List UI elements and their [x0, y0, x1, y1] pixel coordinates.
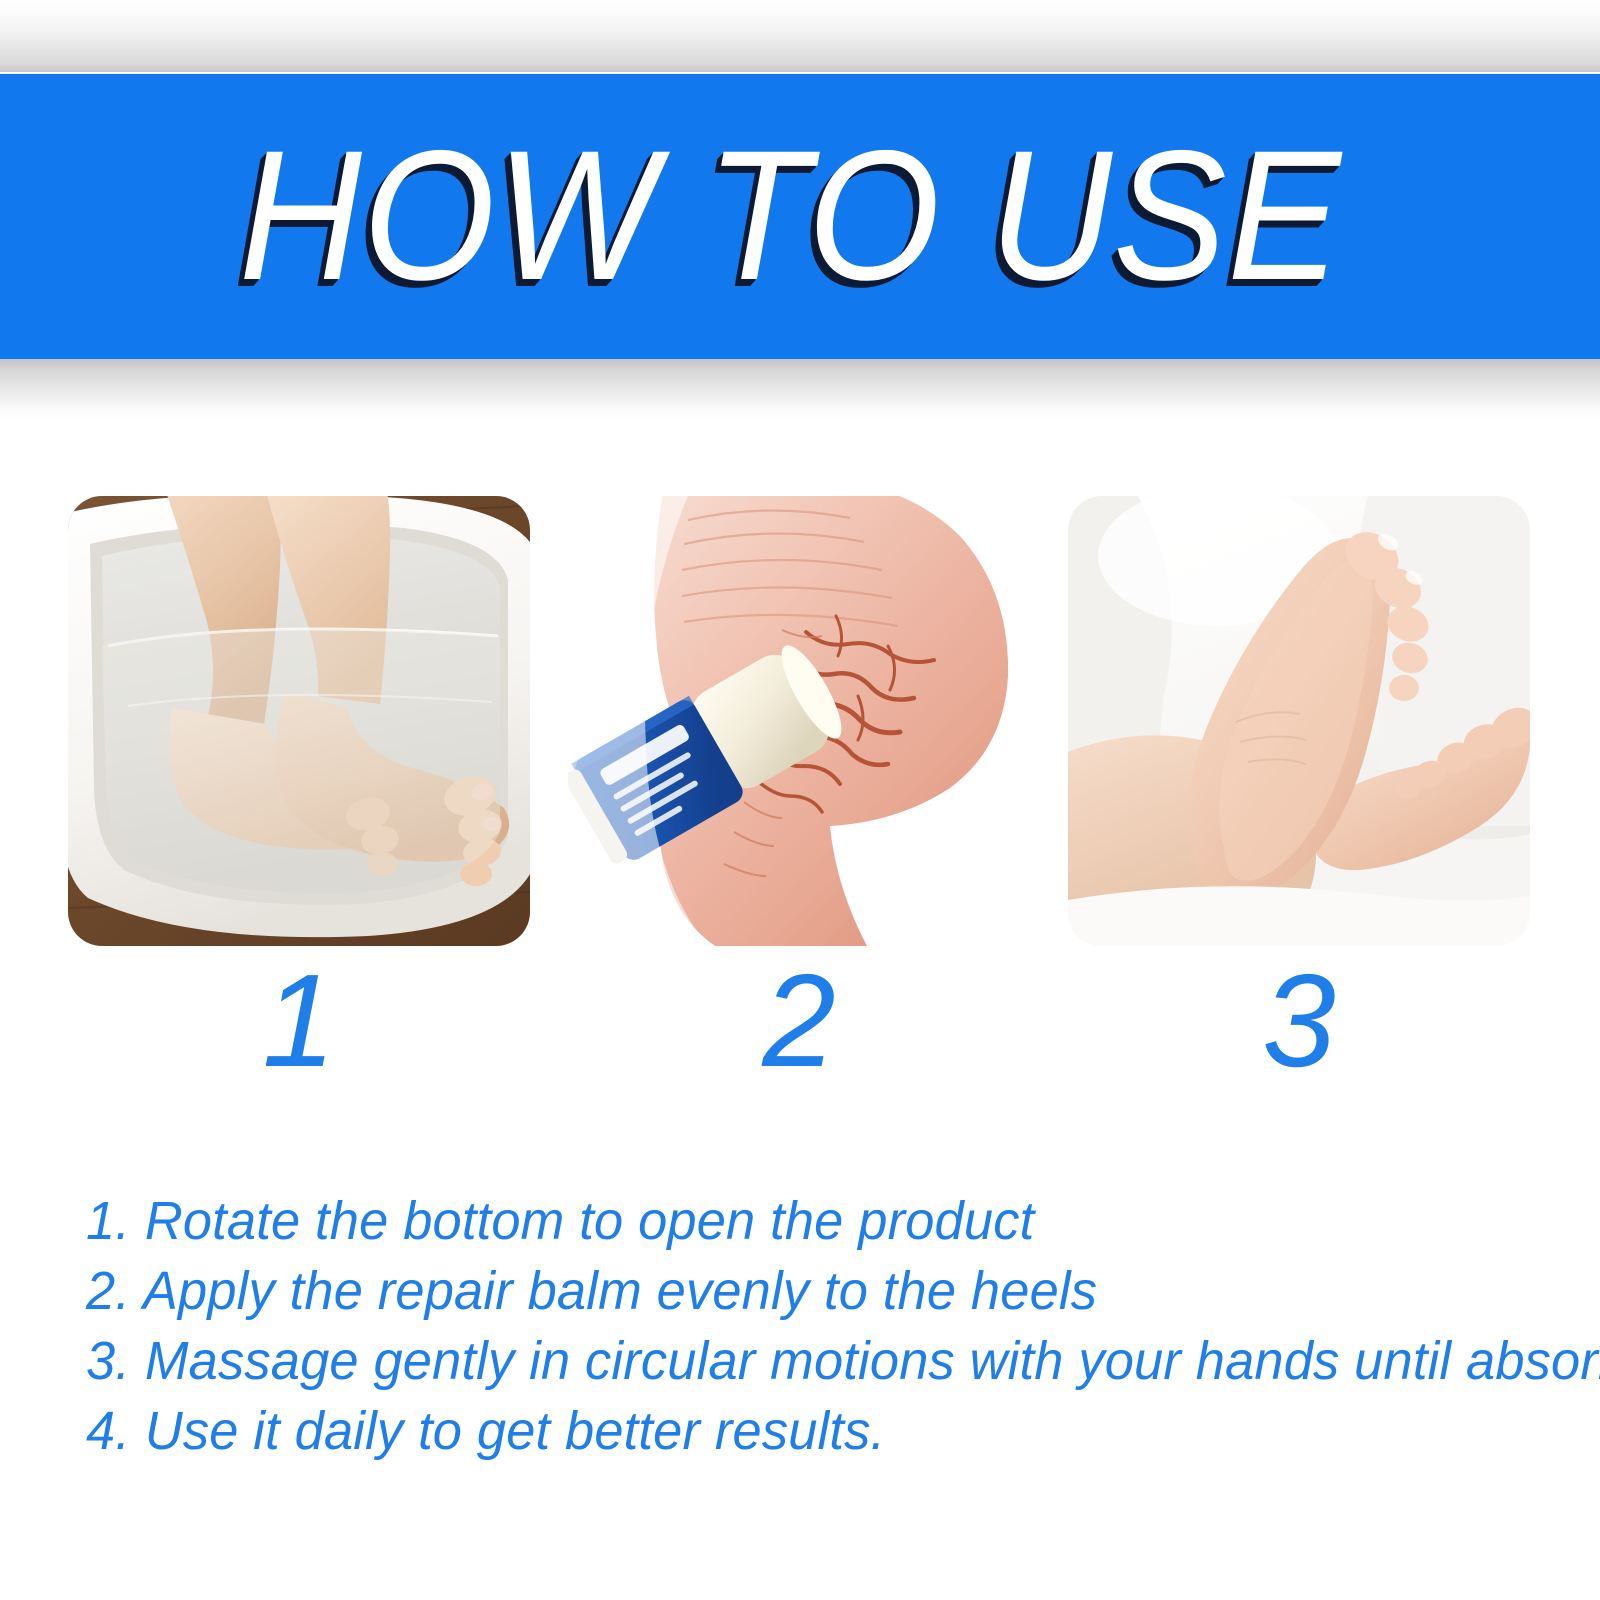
- smooth-feet-illustration: [1068, 496, 1530, 946]
- step-number-3: 3: [1068, 952, 1530, 1091]
- instruction-line-3: 3. Massage gently in circular motions wi…: [86, 1326, 1522, 1396]
- step-1: 1: [68, 496, 530, 1091]
- foot-soak-illustration: [68, 496, 530, 946]
- step-2: 2: [568, 496, 1030, 1091]
- banner-bottom-gradient: [0, 359, 1600, 419]
- header-banner-area: HOW TO USE: [0, 0, 1600, 400]
- smooth-feet-result-photo: [1068, 496, 1530, 946]
- foot-soak-basin-photo: [68, 496, 530, 946]
- cracked-heel-illustration: [568, 496, 1030, 946]
- header-banner: HOW TO USE: [0, 74, 1600, 359]
- banner-top-gradient: [0, 0, 1600, 72]
- instruction-line-2: 2. Apply the repair balm evenly to the h…: [86, 1256, 1522, 1326]
- how-to-use-infographic: HOW TO USE: [0, 0, 1600, 1600]
- step-3: 3: [1068, 496, 1530, 1091]
- step-number-2: 2: [568, 952, 1030, 1091]
- balm-application-cracked-heel-photo: [568, 496, 1030, 946]
- instruction-line-4: 4. Use it daily to get better results.: [86, 1396, 1522, 1466]
- instruction-line-1: 1. Rotate the bottom to open the product: [86, 1186, 1522, 1256]
- instruction-list: 1. Rotate the bottom to open the product…: [86, 1186, 1566, 1466]
- steps-row: 1: [68, 496, 1530, 1091]
- page-title: HOW TO USE: [239, 124, 1342, 309]
- step-number-1: 1: [68, 952, 530, 1091]
